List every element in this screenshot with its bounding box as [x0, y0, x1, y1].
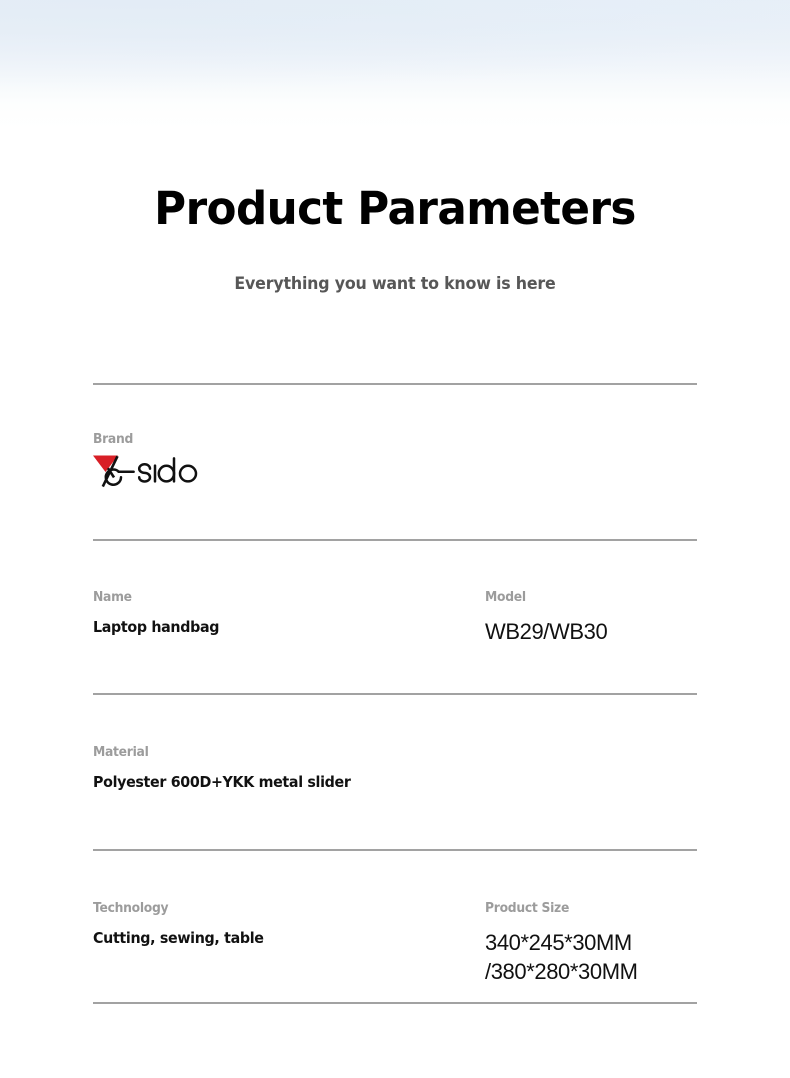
- divider-bottom: [93, 1002, 697, 1004]
- logo-letter-d-bowl: [159, 466, 174, 482]
- yesido-logo-icon: [93, 454, 219, 488]
- spec-cell-name: Name Laptop handbag: [93, 591, 485, 693]
- spec-value-technology: Cutting, sewing, table: [93, 915, 465, 946]
- spec-cell-material-right: [485, 746, 697, 849]
- spec-row-brand: Brand: [93, 385, 697, 539]
- spec-cell-technology: Technology Cutting, sewing, table: [93, 902, 485, 1002]
- spec-value-name: Laptop handbag: [93, 604, 465, 635]
- spec-label-technology: Technology: [93, 902, 465, 915]
- spec-value-material: Polyester 600D+YKK metal slider: [93, 759, 465, 790]
- spec-cell-model: Model WB29/WB30: [485, 591, 697, 693]
- spec-label-name: Name: [93, 591, 465, 604]
- spec-row-technology: Technology Cutting, sewing, table Produc…: [93, 851, 697, 1002]
- page-title: Product Parameters: [12, 186, 778, 231]
- spec-label-brand: Brand: [93, 433, 465, 446]
- spec-label-model: Model: [485, 591, 686, 604]
- spec-label-material: Material: [93, 746, 465, 759]
- spec-label-product-size: Product Size: [485, 902, 686, 915]
- brand-logo: yesido: [93, 454, 219, 488]
- page-subtitle: Everything you want to know is here: [16, 231, 774, 293]
- spec-cell-brand: Brand: [93, 433, 485, 539]
- spec-cell-brand-right: [485, 433, 697, 539]
- spec-table: Brand: [93, 383, 697, 1004]
- spec-value-product-size: 340*245*30MM /380*280*30MM: [485, 915, 697, 987]
- spec-row-name: Name Laptop handbag Model WB29/WB30: [93, 541, 697, 693]
- product-parameters-page: Product Parameters Everything you want t…: [0, 0, 790, 1078]
- logo-letter-o: [180, 466, 196, 482]
- spec-row-material: Material Polyester 600D+YKK metal slider: [93, 695, 697, 849]
- spec-value-model: WB29/WB30: [485, 604, 697, 646]
- page-header: Product Parameters Everything you want t…: [0, 0, 790, 293]
- logo-letter-s: [139, 464, 150, 481]
- spec-cell-material: Material Polyester 600D+YKK metal slider: [93, 746, 485, 849]
- spec-cell-product-size: Product Size 340*245*30MM /380*280*30MM: [485, 902, 697, 1002]
